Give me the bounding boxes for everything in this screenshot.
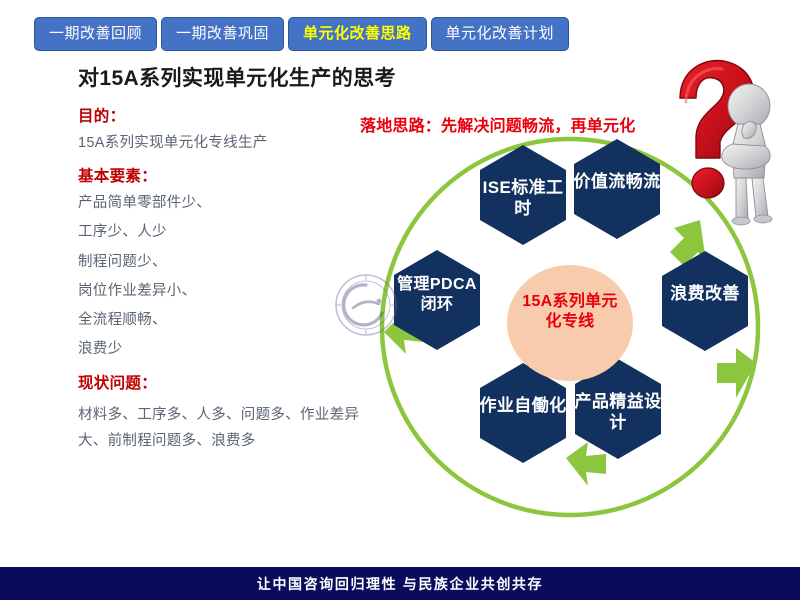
page-title: 对15A系列实现单元化生产的思考 — [78, 62, 396, 92]
footer-bar: 让中国咨询回归理性 与民族企业共创共存 — [0, 567, 800, 600]
center-circle — [507, 265, 633, 381]
tab-label: 单元化改善计划 — [446, 26, 555, 41]
tab-cell-improvement-plan[interactable]: 单元化改善计划 — [431, 17, 570, 51]
tab-label: 一期改善回顾 — [49, 26, 142, 41]
basic-element-item: 产品简单零部件少、 — [78, 195, 388, 211]
hex-waste-improvement — [662, 251, 748, 351]
question-mark-figure-icon — [660, 52, 800, 227]
footer-slogan: 让中国咨询回归理性 与民族企业共创共存 — [257, 574, 543, 594]
purpose-text: 15A系列实现单元化专线生产 — [78, 135, 388, 151]
approach-caption: 落地思路：先解决问题畅流，再单元化 — [360, 112, 635, 136]
watermark-logo-icon — [333, 272, 399, 338]
tab-phase1-review[interactable]: 一期改善回顾 — [34, 17, 157, 51]
basic-element-item: 制程问题少、 — [78, 254, 388, 270]
basic-element-item: 浪费少 — [78, 341, 388, 357]
tab-phase1-consolidation[interactable]: 一期改善巩固 — [161, 17, 284, 51]
basic-elements-heading: 基本要素： — [78, 164, 388, 186]
basic-element-item: 工序少、人少 — [78, 224, 388, 240]
purpose-heading: 目的： — [78, 104, 388, 126]
tab-label: 一期改善巩固 — [176, 26, 269, 41]
tab-bar: 一期改善回顾 一期改善巩固 单元化改善思路 单元化改善计划 — [34, 17, 569, 51]
thinking-person-figure — [722, 84, 772, 225]
slide-canvas: 一期改善回顾 一期改善巩固 单元化改善思路 单元化改善计划 对15A系列实现单元… — [0, 0, 800, 600]
tab-cell-improvement-approach[interactable]: 单元化改善思路 — [288, 17, 427, 51]
tab-label: 单元化改善思路 — [303, 26, 412, 41]
current-problems-heading: 现状问题： — [78, 371, 388, 393]
hex-ise-standard-hours — [480, 145, 566, 245]
current-problems-text: 材料多、工序多、人多、问题多、作业差异大、前制程问题多、浪费多 — [78, 402, 378, 456]
